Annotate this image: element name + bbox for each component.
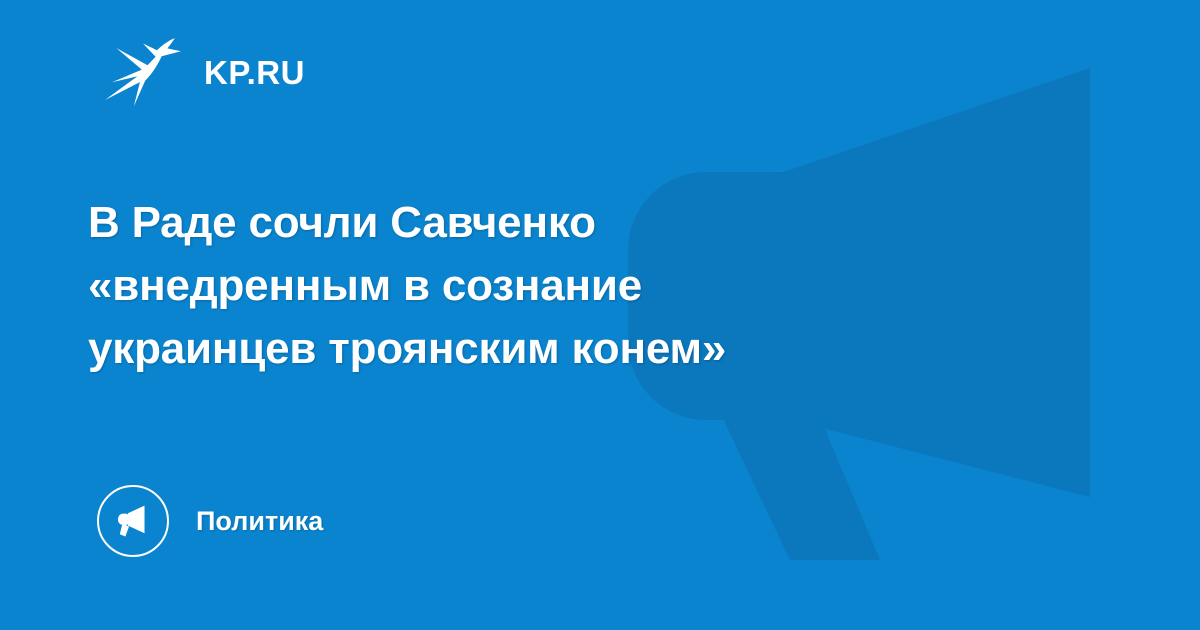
headline-line-2: «внедренным в сознание	[88, 254, 988, 317]
share-card: KP.RU В Раде сочли Савченко «внедренным …	[0, 0, 1200, 630]
category-badge[interactable]: Политика	[97, 485, 323, 557]
category-icon-circle	[97, 485, 169, 557]
headline: В Раде сочли Савченко «внедренным в созн…	[88, 191, 988, 380]
brand-name: KP.RU	[204, 56, 305, 89]
brand[interactable]: KP.RU	[104, 34, 305, 110]
headline-line-1: В Раде сочли Савченко	[88, 191, 988, 254]
headline-line-3: украинцев троянским конем»	[88, 317, 988, 380]
megaphone-icon	[114, 502, 152, 540]
swallow-bird-icon	[104, 34, 182, 110]
category-label: Политика	[196, 508, 323, 535]
